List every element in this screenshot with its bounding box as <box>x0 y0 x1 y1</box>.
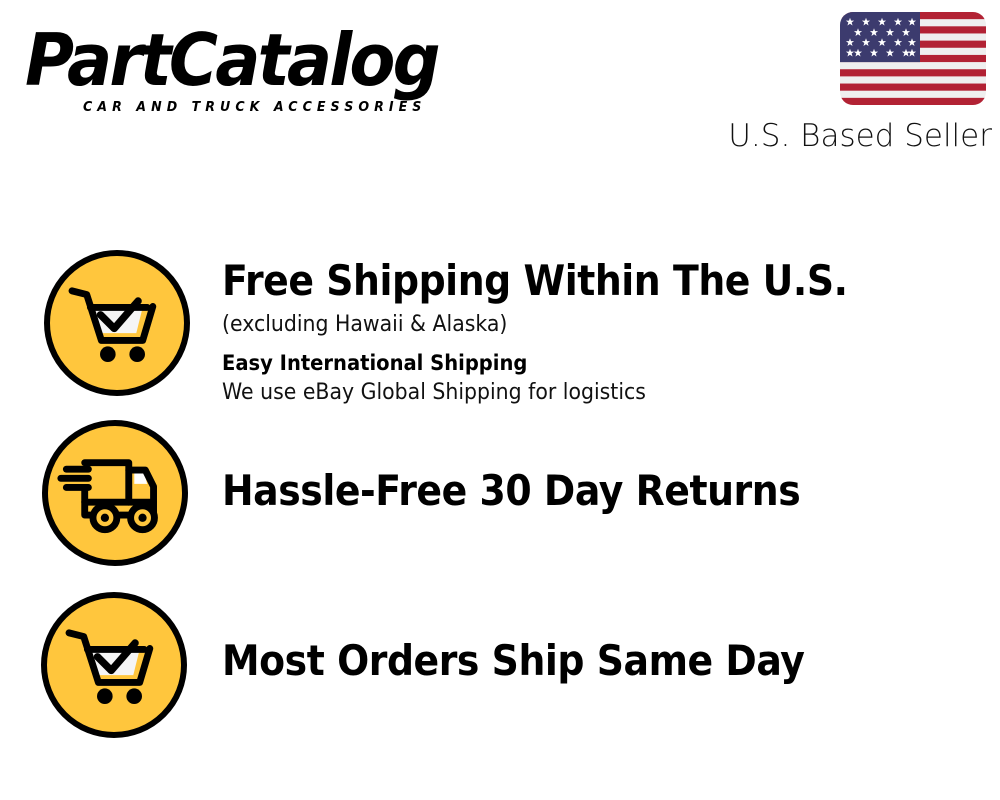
feature-text: Most Orders Ship Same Day <box>222 636 992 686</box>
feature-subheading: Easy International Shipping <box>222 348 938 378</box>
delivery-truck-icon <box>42 420 188 566</box>
feature-subtext: We use eBay Global Shipping for logistic… <box>222 378 938 408</box>
feature-heading: Free Shipping Within The U.S. <box>222 256 915 306</box>
feature-row: Free Shipping Within The U.S. (excluding… <box>0 250 1000 400</box>
cart-check-icon <box>41 592 187 738</box>
seller-banner: PartCatalog CAR AND TRUCK ACCESSORIES <box>0 0 1000 800</box>
feature-text: Free Shipping Within The U.S. (excluding… <box>222 256 992 408</box>
feature-heading: Hassle-Free 30 Day Returns <box>222 466 915 516</box>
feature-heading: Most Orders Ship Same Day <box>222 636 915 686</box>
feature-note: (excluding Hawaii & Alaska) <box>222 310 938 340</box>
feature-row: Most Orders Ship Same Day <box>0 592 1000 740</box>
feature-row: Hassle-Free 30 Day Returns <box>0 420 1000 568</box>
cart-check-icon <box>44 250 190 396</box>
feature-text: Hassle-Free 30 Day Returns <box>222 466 992 516</box>
feature-list: Free Shipping Within The U.S. (excluding… <box>0 0 1000 800</box>
